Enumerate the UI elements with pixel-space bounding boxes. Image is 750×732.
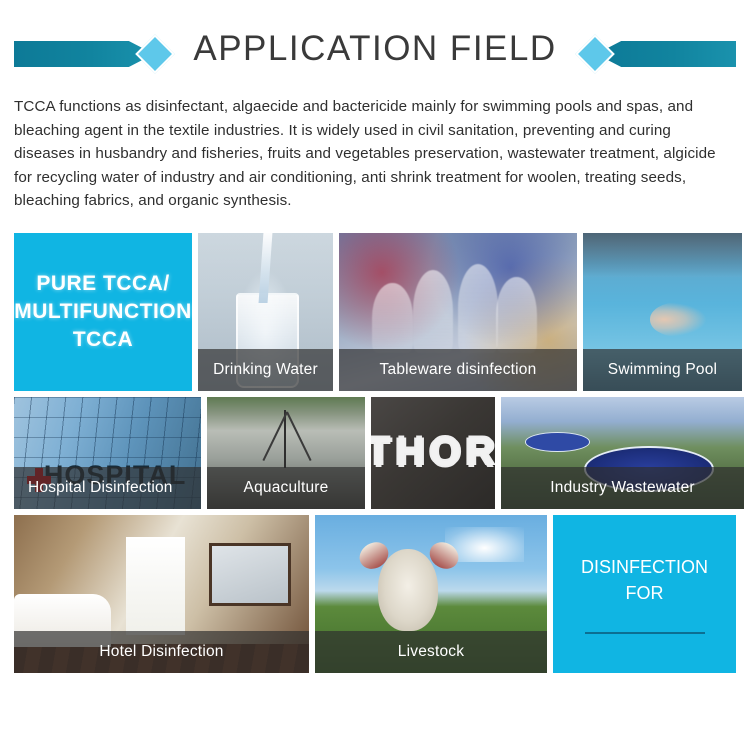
header-bar-left: [14, 41, 154, 67]
grid-row-1: PURE TCCA/ MULTIFUNCTION TCCA Drinking W…: [14, 233, 736, 391]
tile-livestock[interactable]: Livestock: [315, 515, 547, 673]
aerator-arm-shape: [286, 412, 311, 461]
tile-disinfection-for[interactable]: DISINFECTION FOR: [553, 515, 736, 673]
diamond-icon-right: [575, 34, 615, 74]
disinfection-for-line-2: FOR: [626, 580, 664, 606]
thor-tablets-photo: THOR: [371, 397, 495, 509]
thor-brand-text: THOR: [371, 397, 495, 509]
pure-tcca-line-2: MULTIFUNCTION: [14, 298, 192, 326]
pure-tcca-text: PURE TCCA/ MULTIFUNCTION TCCA: [14, 233, 192, 391]
page-title: APPLICATION FIELD: [193, 29, 556, 69]
tile-hospital-disinfection[interactable]: HOSPITAL Hospital Disinfection: [14, 397, 201, 509]
caption-tableware-disinfection: Tableware disinfection: [339, 349, 577, 391]
wine-glass-shape: [413, 270, 453, 352]
caption-hospital-disinfection: Hospital Disinfection: [14, 467, 201, 509]
application-grid: PURE TCCA/ MULTIFUNCTION TCCA Drinking W…: [14, 233, 736, 673]
header-decoration-left: [14, 38, 179, 70]
grid-row-2: HOSPITAL Hospital Disinfection Aquacultu…: [14, 397, 736, 509]
tile-aquaculture[interactable]: Aquaculture: [207, 397, 365, 509]
water-surface-shape: [583, 233, 742, 277]
tile-drinking-water[interactable]: Drinking Water: [198, 233, 333, 391]
tile-thor-tablets[interactable]: THOR: [371, 397, 495, 509]
swimmer-shape: [650, 302, 707, 337]
caption-drinking-water: Drinking Water: [198, 349, 333, 391]
caption-livestock: Livestock: [315, 631, 547, 673]
window-shape: [126, 537, 185, 635]
caption-industry-wastewater: Industry Wastewater: [501, 467, 744, 509]
caption-swimming-pool: Swimming Pool: [583, 349, 742, 391]
diamond-icon-left: [135, 34, 175, 74]
intro-paragraph: TCCA functions as disinfectant, algaecid…: [14, 95, 736, 213]
tile-tableware-disinfection[interactable]: Tableware disinfection: [339, 233, 577, 391]
pure-tcca-line-1: PURE TCCA/: [36, 270, 169, 298]
header-decoration-right: [571, 38, 736, 70]
caption-aquaculture: Aquaculture: [207, 467, 365, 509]
tile-pure-tcca[interactable]: PURE TCCA/ MULTIFUNCTION TCCA: [14, 233, 192, 391]
tile-industry-wastewater[interactable]: Industry Wastewater: [501, 397, 744, 509]
settling-tank-shape: [525, 432, 590, 452]
tile-hotel-disinfection[interactable]: Hotel Disinfection: [14, 515, 309, 673]
grid-row-3: Hotel Disinfection Livestock DISINFECTIO…: [14, 515, 736, 673]
caption-hotel-disinfection: Hotel Disinfection: [14, 631, 309, 673]
page-header: APPLICATION FIELD: [0, 0, 750, 95]
television-shape: [209, 543, 292, 606]
lamb-head-shape: [378, 549, 438, 631]
wine-glass-shape: [496, 277, 536, 353]
header-bar-right: [596, 41, 736, 67]
pure-tcca-line-3: TCCA: [73, 326, 133, 354]
disinfection-for-line-1: DISINFECTION: [581, 554, 708, 580]
tile-swimming-pool[interactable]: Swimming Pool: [583, 233, 742, 391]
disinfection-for-text: DISINFECTION FOR: [553, 515, 736, 673]
water-stream-shape: [259, 233, 273, 303]
wine-glass-shape: [372, 283, 412, 353]
divider-rule: [585, 632, 705, 634]
wine-glass-shape: [458, 264, 498, 352]
